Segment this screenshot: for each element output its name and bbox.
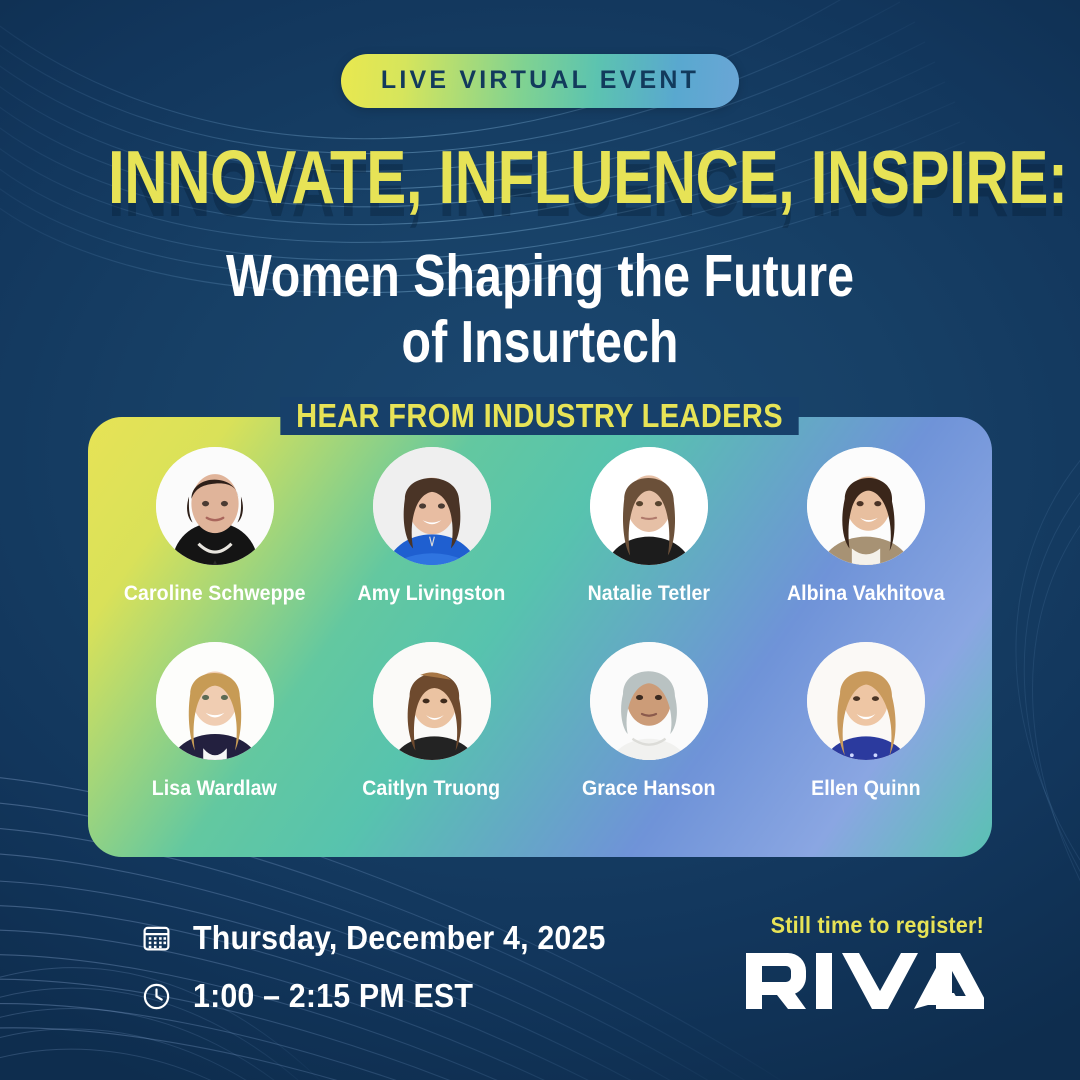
speaker-item: Ellen Quinn: [757, 642, 974, 837]
portrait-lisa-wardlaw: [156, 642, 274, 760]
subtitle-line-2: of Insurtech: [97, 309, 983, 375]
speaker-item: Amy Livingston: [323, 447, 540, 642]
event-poster: LIVE VIRTUAL EVENT INNOVATE, INFLUENCE, …: [0, 0, 1080, 1080]
speaker-item: Caitlyn Truong: [323, 642, 540, 837]
speaker-item: Natalie Tetler: [540, 447, 757, 642]
rival-wordmark: [746, 953, 984, 1009]
subtitle-line-1: Women Shaping the Future: [97, 243, 983, 309]
live-event-badge-wrapper: LIVE VIRTUAL EVENT: [0, 54, 1080, 108]
rival-logo: [746, 953, 984, 1014]
event-time: 1:00 – 2:15 PM EST: [193, 977, 473, 1015]
headline-block: INNOVATE, INFLUENCE, INSPIRE: Women Shap…: [0, 140, 1080, 375]
speaker-avatar: [373, 447, 491, 565]
page-title: INNOVATE, INFLUENCE, INSPIRE:: [108, 140, 972, 215]
event-time-row: 1:00 – 2:15 PM EST: [140, 970, 641, 1022]
event-date-row: Thursday, December 4, 2025: [140, 912, 641, 964]
speaker-name: Ellen Quinn: [811, 777, 921, 801]
speaker-avatar: [807, 642, 925, 760]
speakers-card-inner: Caroline Schweppe: [92, 421, 988, 853]
speaker-item: Lisa Wardlaw: [106, 642, 323, 837]
portrait-natalie-tetler: [590, 447, 708, 565]
page-subtitle: Women Shaping the Future of Insurtech: [97, 243, 983, 375]
portrait-albina-vakhitova: [807, 447, 925, 565]
portrait-caroline-schweppe: [156, 447, 274, 565]
event-details: Thursday, December 4, 2025 1:00 – 2:15 P…: [140, 912, 641, 1022]
live-event-badge: LIVE VIRTUAL EVENT: [341, 54, 739, 108]
register-note: Still time to register!: [760, 912, 984, 939]
speaker-avatar: [590, 447, 708, 565]
brand-block: Still time to register!: [746, 912, 984, 1014]
event-date: Thursday, December 4, 2025: [193, 919, 606, 957]
speaker-avatar: [156, 447, 274, 565]
portrait-amy-livingston: [373, 447, 491, 565]
speaker-avatar: [590, 642, 708, 760]
speaker-item: Albina Vakhitova: [757, 447, 974, 642]
clock-icon: [140, 981, 173, 1012]
speaker-item: Caroline Schweppe: [106, 447, 323, 642]
speaker-item: Grace Hanson: [540, 642, 757, 837]
speaker-avatar: [807, 447, 925, 565]
speaker-name: Caroline Schweppe: [124, 582, 306, 606]
portrait-caitlyn-truong: [373, 642, 491, 760]
speaker-name: Albina Vakhitova: [787, 582, 945, 606]
speaker-name: Amy Livingston: [358, 582, 506, 606]
speaker-name: Natalie Tetler: [587, 582, 710, 606]
speaker-name: Lisa Wardlaw: [152, 777, 277, 801]
speaker-name: Caitlyn Truong: [362, 777, 500, 801]
speakers-grid: Caroline Schweppe: [92, 421, 988, 853]
speaker-avatar: [156, 642, 274, 760]
speakers-card: Caroline Schweppe: [88, 417, 992, 857]
speaker-avatar: [373, 642, 491, 760]
calendar-icon: [140, 923, 173, 954]
portrait-ellen-quinn: [807, 642, 925, 760]
portrait-grace-hanson: [590, 642, 708, 760]
speaker-name: Grace Hanson: [582, 777, 716, 801]
